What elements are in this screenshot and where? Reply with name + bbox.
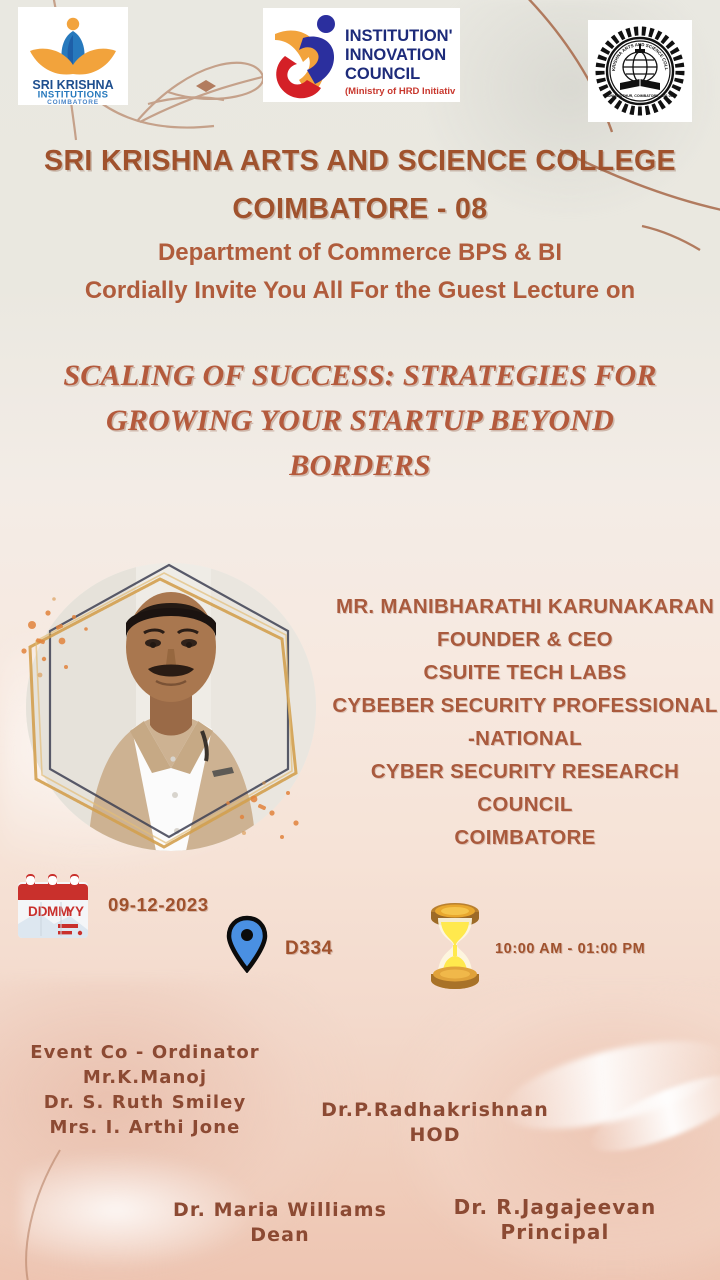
dean-block: Dr. Maria Williams Dean bbox=[135, 1198, 425, 1248]
location-pin-icon bbox=[226, 915, 268, 978]
speaker-city: COIMBATORE bbox=[330, 821, 720, 854]
logo-iic-line3: COUNCIL bbox=[345, 65, 420, 83]
hod-role: HOD bbox=[290, 1123, 580, 1148]
logo-sk-line3: COIMBATORE bbox=[47, 99, 99, 105]
speaker-role-line-2: -NATIONAL bbox=[330, 722, 720, 755]
invitation-text: Cordially Invite You All For the Guest L… bbox=[0, 277, 720, 305]
college-name-line-2: COIMBATORE - 08 bbox=[0, 193, 720, 226]
principal-name: Dr. R.Jagajeevan bbox=[400, 1195, 710, 1220]
logo-iic-line4: (Ministry of HRD Initiativ bbox=[345, 86, 456, 97]
speaker-org-line: CYBER SECURITY RESEARCH COUNCIL bbox=[330, 755, 720, 821]
department-name: Department of Commerce BPS & BI bbox=[0, 239, 720, 267]
hourglass-icon bbox=[427, 898, 483, 997]
lecture-title-line-1: SCALING OF SUCCESS: STRATEGIES FOR bbox=[0, 359, 720, 393]
sri-krishna-arts-and-science-college-seal: KUNIAMUTHUR, COIMBATORE - 641 008 SRI KR… bbox=[588, 20, 692, 122]
speaker-role-line-1: CYBEBER SECURITY PROFESSIONAL bbox=[330, 689, 720, 722]
speaker-name: MR. MANIBHARATHI KARUNAKARAN bbox=[330, 590, 720, 623]
calendar-dd-label: DD bbox=[28, 904, 48, 919]
event-time: 10:00 AM - 01:00 PM bbox=[495, 941, 645, 957]
hod-block: Dr.P.Radhakrishnan HOD bbox=[290, 1098, 580, 1148]
institutions-innovation-council-logo: INSTITUTION' INNOVATION COUNCIL (Ministr… bbox=[263, 8, 460, 102]
sri-krishna-institutions-logo: SRI KRISHNA INSTITUTIONS COIMBATORE bbox=[18, 7, 128, 105]
speaker-details: MR. MANIBHARATHI KARUNAKARAN FOUNDER & C… bbox=[330, 590, 720, 854]
logo-iic-line2: INNOVATION bbox=[345, 46, 446, 64]
coordinator-title: Event Co - Ordinator bbox=[0, 1040, 290, 1065]
lecture-title-line-2: GROWING YOUR STARTUP BEYOND bbox=[0, 404, 720, 438]
hod-name: Dr.P.Radhakrishnan bbox=[290, 1098, 580, 1123]
principal-role: Principal bbox=[400, 1220, 710, 1245]
college-name-line-1: SRI KRISHNA ARTS AND SCIENCE COLLEGE bbox=[0, 145, 720, 178]
event-venue: D334 bbox=[285, 938, 333, 960]
coordinator-name-2: Dr. S. Ruth Smiley bbox=[0, 1090, 290, 1115]
dean-role: Dean bbox=[135, 1223, 425, 1248]
event-coordinator-block: Event Co - Ordinator Mr.K.Manoj Dr. S. R… bbox=[0, 1040, 290, 1140]
poster-canvas: SRI KRISHNA INSTITUTIONS COIMBATORE INST… bbox=[0, 0, 720, 1280]
speaker-company: CSUITE TECH LABS bbox=[330, 656, 720, 689]
logo-iic-line1: INSTITUTION' bbox=[345, 27, 453, 45]
seal-bottom-text: KUNIAMUTHUR, COIMBATORE - 641 008 bbox=[605, 94, 674, 98]
dean-name: Dr. Maria Williams bbox=[135, 1198, 425, 1223]
principal-block: Dr. R.Jagajeevan Principal bbox=[400, 1195, 710, 1245]
calendar-icon: DD MM YY bbox=[8, 872, 100, 951]
calendar-yy-label: YY bbox=[66, 904, 84, 919]
speaker-designation: FOUNDER & CEO bbox=[330, 623, 720, 656]
lecture-title-line-3: BORDERS bbox=[0, 449, 720, 483]
coordinator-name-3: Mrs. I. Arthi Jone bbox=[0, 1115, 290, 1140]
speaker-photo-frame bbox=[14, 555, 324, 855]
coordinator-name-1: Mr.K.Manoj bbox=[0, 1065, 290, 1090]
event-date: 09-12-2023 bbox=[108, 894, 209, 916]
confetti-speckles-decoration bbox=[0, 555, 326, 855]
